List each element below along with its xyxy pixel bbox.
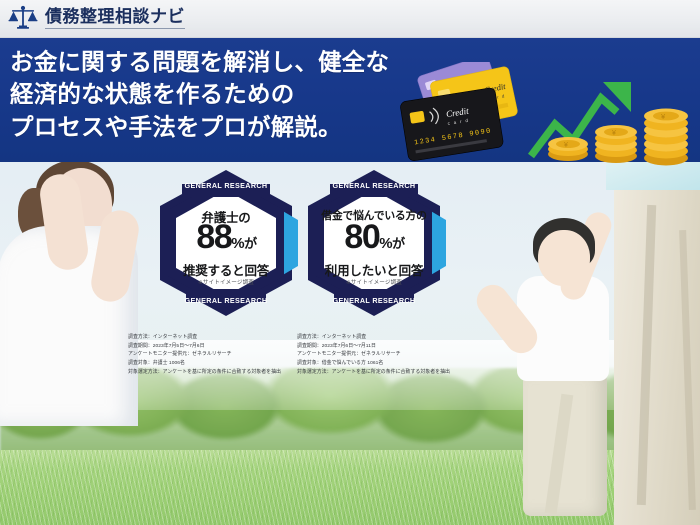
fineprint-line-5: 対象選定方法：アンケートを基に所定の条件に合致する対象者を抽出 (128, 369, 281, 378)
coin-stack-medium: ¥ (595, 125, 637, 163)
credit-card-black: Credit c a r d 1234 5678 9090 (400, 87, 504, 161)
coin-stack-large: ¥ (644, 109, 688, 166)
badge-percent-unit: % (231, 235, 244, 252)
survey-badge-debt: GENERAL RESEARCH 借金で悩んでいる方の 80%が 利用したいと回… (300, 168, 448, 318)
survey-fineprints: 調査方法：インターネット調査 調査期間：2023年7月5日〜7月6日 アンケート… (0, 334, 700, 380)
hero-headline: お金に関する問題を解消し、健全な 経済的な状態を作るための プロセスや手法をプロ… (10, 46, 440, 143)
headline-line-2: 経済的な状態を作るための (10, 78, 440, 110)
badge-percent-number: 80 (344, 218, 379, 256)
fineprint-line-4: 調査対象：弁護士 1006名 (128, 360, 281, 369)
survey-badge-lawyer: GENERAL RESEARCH 弁護士の 88%が 推奨すると回答 ※サイトイ… (152, 168, 300, 318)
badge-bottom-label: GENERAL RESEARCH (333, 296, 416, 305)
fineprint-line-1: 調査方法：インターネット調査 (297, 334, 450, 343)
coin-stack-small: ¥ (548, 137, 588, 161)
fineprint-line-3: アンケートモニター提供元：ゼネラルリサーチ (128, 351, 281, 360)
badge-top-label: GENERAL RESEARCH (185, 181, 268, 190)
badge-bottom-label: GENERAL RESEARCH (185, 296, 268, 305)
badge-percent-particle: が (392, 236, 404, 251)
badge-percent-value: 80%が (300, 220, 448, 254)
credit-cards-coins-artwork: Credit c a r d Credit c a r d 1234 5678 … (395, 62, 700, 167)
badge-percent-particle: が (244, 236, 256, 251)
badge-percent-value: 88%が (152, 220, 300, 254)
site-title: 債務整理相談ナビ (45, 8, 185, 30)
fineprint-debt: 調査方法：インターネット調査 調査期間：2023年7月6日〜7月11日 アンケー… (297, 334, 450, 377)
svg-text:¥: ¥ (612, 130, 616, 137)
badge-percent-number: 88 (196, 218, 231, 256)
scales-of-justice-icon (8, 5, 38, 33)
badge-line-3: 推奨すると回答 (152, 260, 300, 279)
fineprint-line-2: 調査期間：2023年7月6日〜7月11日 (297, 343, 450, 352)
fineprint-line-4: 調査対象：借金で悩んでいる方 1061名 (297, 360, 450, 369)
headline-line-3: プロセスや手法をプロが解説。 (10, 111, 440, 143)
fineprint-line-1: 調査方法：インターネット調査 (128, 334, 281, 343)
svg-text:¥: ¥ (564, 142, 568, 149)
badge-note: ※サイトイメージ調査 (152, 278, 300, 286)
fineprint-line-2: 調査期間：2023年7月5日〜7月6日 (128, 343, 281, 352)
badge-note: ※サイトイメージ調査 (300, 278, 448, 286)
fineprint-line-3: アンケートモニター提供元：ゼネラルリサーチ (297, 351, 450, 360)
fineprint-line-5: 対象選定方法：アンケートを基に所定の条件に合致する対象者を抽出 (297, 369, 450, 378)
hero-banner-page: 債務整理相談ナビ お金に関する問題を解消し、健全な 経済的な状態を作るための プ… (0, 0, 700, 525)
headline-line-1: お金に関する問題を解消し、健全な (10, 46, 440, 78)
badge-percent-unit: % (379, 235, 392, 252)
badge-line-3: 利用したいと回答 (300, 260, 448, 279)
badge-top-label: GENERAL RESEARCH (333, 181, 416, 190)
fineprint-lawyer: 調査方法：インターネット調査 調査期間：2023年7月5日〜7月6日 アンケート… (128, 334, 281, 377)
site-header: 債務整理相談ナビ (0, 0, 700, 38)
